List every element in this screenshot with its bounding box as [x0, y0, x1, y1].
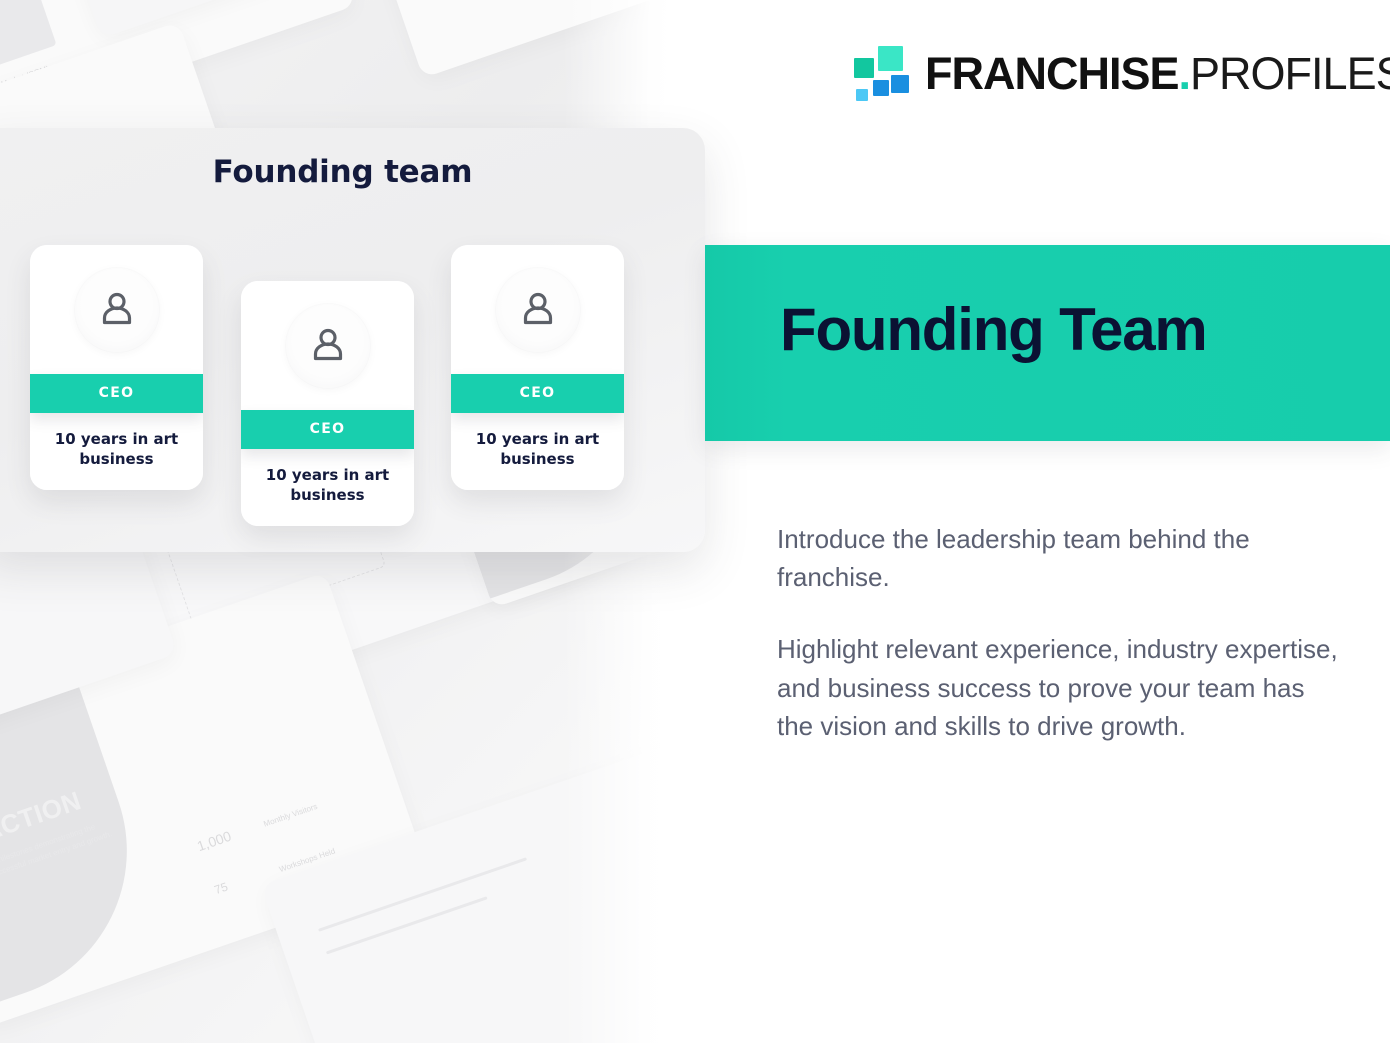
avatar-circle: [285, 303, 371, 389]
founding-team-slide-preview: Founding team CEO 10 years in art busine…: [0, 128, 705, 552]
logo-square-blue-small: [873, 80, 889, 96]
description-paragraph: Introduce the leadership team behind the…: [777, 520, 1343, 596]
deck-slide-problem: THE PROBLEM Many individuals and communi…: [322, 0, 673, 78]
brand-logo[interactable]: FRANCHISE.PROFILES: [851, 42, 1390, 104]
avatar: [30, 245, 203, 374]
brand-name-dot: .: [1179, 48, 1191, 99]
brand-wordmark: FRANCHISE.PROFILES: [925, 51, 1390, 96]
member-role-badge: CEO: [30, 374, 203, 413]
brand-name-light: PROFILES: [1190, 48, 1390, 99]
preview-title: Founding team: [0, 154, 685, 190]
section-heading-band: Founding Team: [705, 245, 1390, 441]
avatar: [241, 281, 414, 410]
member-role-badge: CEO: [241, 410, 414, 449]
brand-name-bold: FRANCHISE: [925, 48, 1179, 99]
avatar: [451, 245, 624, 374]
team-member-card[interactable]: CEO 10 years in art business: [451, 245, 624, 490]
deck-metric-value: 1,000: [195, 828, 233, 855]
person-icon: [307, 325, 349, 367]
member-description: 10 years in art business: [241, 449, 414, 526]
section-description: Introduce the leadership team behind the…: [777, 520, 1343, 745]
person-icon: [517, 289, 559, 331]
deck-metric-label: Monthly Visitors: [262, 802, 318, 829]
member-description: 10 years in art business: [30, 413, 203, 490]
logo-square-blue-large: [891, 75, 909, 93]
deck-line: [326, 896, 488, 954]
slide-canvas: MARKET Market opportunity for art spaces…: [0, 0, 1390, 1043]
team-member-card[interactable]: CEO 10 years in art business: [241, 281, 414, 526]
page-title: Founding Team: [780, 295, 1207, 364]
logo-square-green: [854, 58, 874, 78]
member-description: 10 years in art business: [451, 413, 624, 490]
avatar-circle: [495, 267, 581, 353]
team-member-card[interactable]: CEO 10 years in art business: [30, 245, 203, 490]
member-role-badge: CEO: [451, 374, 624, 413]
deck-metric-value: 75: [212, 880, 229, 898]
person-icon: [96, 289, 138, 331]
franchise-profiles-squares-logo-icon: [851, 45, 909, 101]
avatar-circle: [74, 267, 160, 353]
logo-square-mint: [878, 46, 903, 71]
logo-square-lightblue: [856, 89, 868, 101]
description-paragraph: Highlight relevant experience, industry …: [777, 630, 1343, 745]
